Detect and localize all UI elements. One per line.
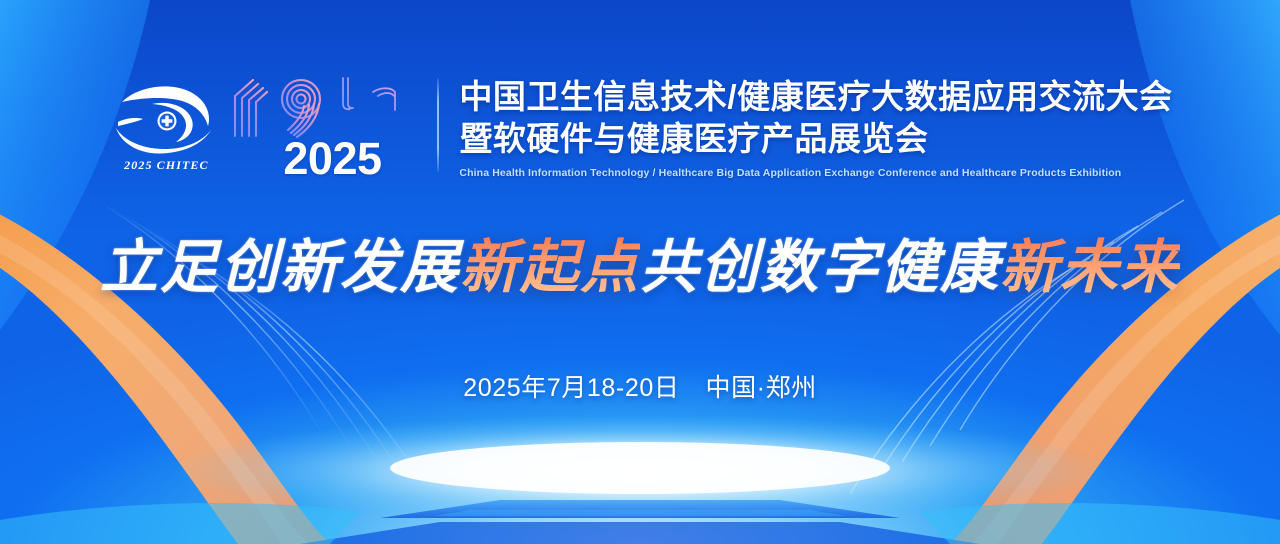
title-en: China Health Information Technology / He… [459, 167, 1172, 179]
slogan-part2-accent: 新未来 [1000, 233, 1180, 301]
title-block: 中国卫生信息技术/健康医疗大数据应用交流大会 暨软硬件与健康医疗产品展览会 Ch… [459, 76, 1172, 179]
chitec-bird-cross-emblem-icon [112, 82, 220, 156]
edition-19th-lineart [231, 74, 427, 140]
edition-block: 2025 [225, 76, 425, 181]
title-cn-line2: 暨软硬件与健康医疗产品展览会 [459, 118, 1172, 160]
slogan: 立足创新发展新起点共创数字健康新未来 [0, 238, 1280, 296]
header-divider [437, 78, 439, 172]
banner-header: 2025 CHITEC [0, 76, 1280, 181]
slogan-part1-white: 立足创新发展 [100, 233, 460, 301]
event-date: 2025年7月18-20日 [463, 374, 679, 402]
slogan-part1-accent: 新起点 [460, 233, 640, 301]
event-meta: 2025年7月18-20日中国·郑州 [0, 368, 1280, 404]
conference-logo: 2025 CHITEC [107, 76, 225, 173]
logo-wordmark: 2025 CHITEC [124, 158, 208, 173]
event-location: 中国·郑州 [705, 374, 816, 402]
title-cn-line1: 中国卫生信息技术/健康医疗大数据应用交流大会 [459, 76, 1172, 118]
slogan-part2-white: 共创数字健康 [640, 233, 1000, 301]
edition-year: 2025 [283, 136, 381, 181]
conference-banner: 2025 CHITEC [0, 0, 1280, 544]
